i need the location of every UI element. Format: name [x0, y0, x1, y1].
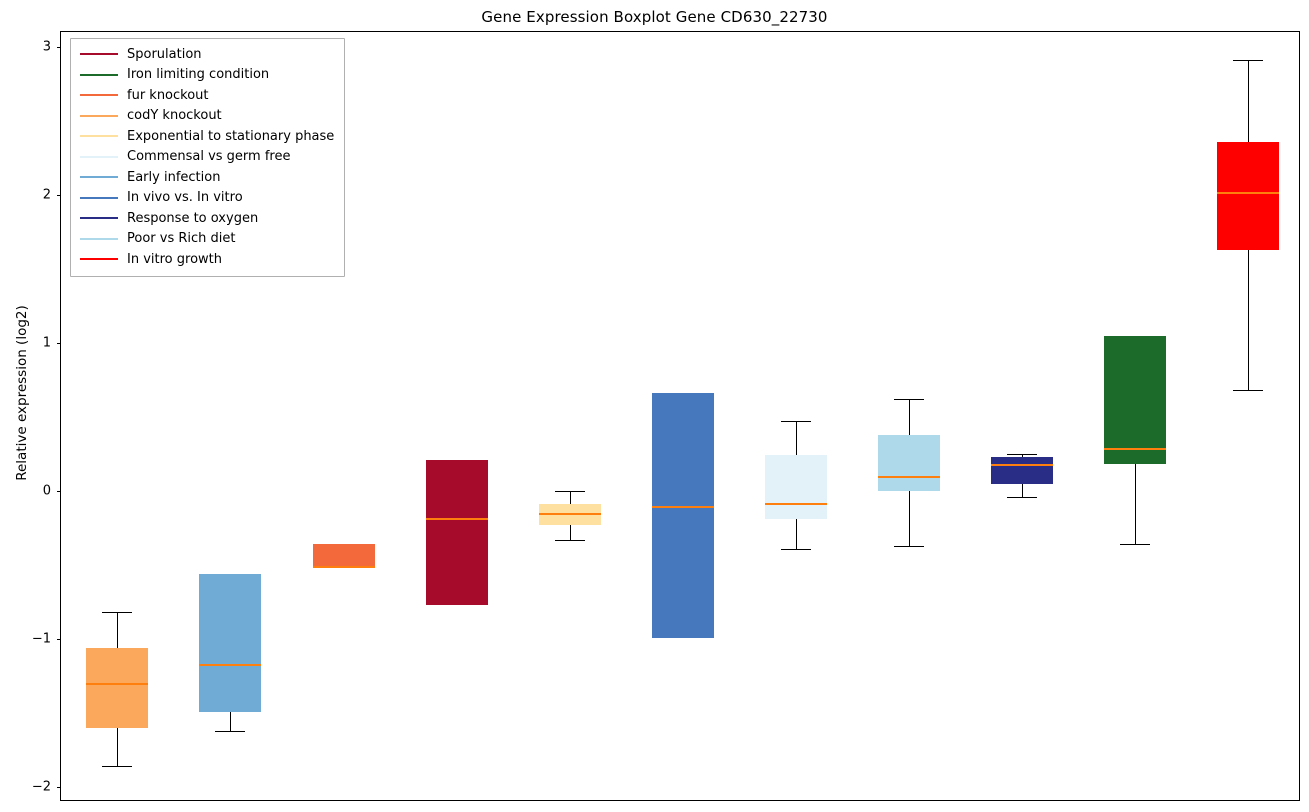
- whisker-cap-upper: [102, 612, 132, 613]
- median-line: [878, 476, 940, 478]
- whisker-cap-lower: [894, 546, 924, 547]
- legend-item-label: In vivo vs. In vitro: [127, 191, 243, 204]
- box-rect[interactable]: [1104, 336, 1166, 465]
- legend-item[interactable]: Exponential to stationary phase: [77, 126, 338, 147]
- median-line: [313, 566, 375, 568]
- legend-item[interactable]: In vivo vs. In vitro: [77, 188, 338, 209]
- box-rect[interactable]: [199, 574, 261, 712]
- median-line: [86, 683, 148, 685]
- box-rect[interactable]: [313, 544, 375, 568]
- median-line: [199, 664, 261, 666]
- box-rect[interactable]: [652, 393, 714, 637]
- legend-color-swatch: [80, 156, 118, 158]
- whisker-cap-upper: [781, 421, 811, 422]
- legend-item-label: Poor vs Rich diet: [127, 232, 235, 245]
- whisker-cap-lower: [215, 731, 245, 732]
- legend-item[interactable]: codY knockout: [77, 106, 338, 127]
- whisker-lower: [230, 712, 231, 731]
- legend-item-label: Commensal vs germ free: [127, 150, 290, 163]
- y-tick-mark: [57, 195, 62, 196]
- legend-item-label: Sporulation: [127, 48, 202, 61]
- legend-item[interactable]: Iron limiting condition: [77, 65, 338, 86]
- legend-color-swatch: [80, 176, 118, 178]
- legend-item[interactable]: Poor vs Rich diet: [77, 229, 338, 250]
- whisker-cap-lower: [1233, 390, 1263, 391]
- whisker-lower: [909, 491, 910, 546]
- whisker-cap-lower: [102, 766, 132, 767]
- y-tick-mark: [57, 491, 62, 492]
- box-rect[interactable]: [991, 457, 1053, 484]
- y-tick-label: 0: [13, 484, 51, 499]
- median-line: [765, 503, 827, 505]
- legend-item-label: Response to oxygen: [127, 212, 258, 225]
- y-axis-label: Relative expression (log2): [14, 193, 30, 593]
- whisker-cap-lower: [781, 549, 811, 550]
- whisker-lower: [117, 728, 118, 766]
- y-tick-mark: [57, 787, 62, 788]
- whisker-lower: [1022, 484, 1023, 497]
- legend-item-label: codY knockout: [127, 109, 222, 122]
- box-rect[interactable]: [1217, 142, 1279, 250]
- whisker-cap-upper: [894, 399, 924, 400]
- legend-color-swatch: [80, 94, 118, 96]
- legend-color-swatch: [80, 74, 118, 76]
- legend-color-swatch: [80, 197, 118, 199]
- legend: SporulationIron limiting conditionfur kn…: [70, 38, 345, 277]
- y-tick-mark: [57, 47, 62, 48]
- legend-color-swatch: [80, 217, 118, 219]
- whisker-upper: [570, 491, 571, 504]
- box-rect[interactable]: [765, 455, 827, 519]
- legend-item-label: fur knockout: [127, 89, 209, 102]
- box-rect[interactable]: [86, 648, 148, 728]
- whisker-cap-upper: [555, 491, 585, 492]
- y-tick-mark: [57, 343, 62, 344]
- median-line: [991, 464, 1053, 466]
- box-rect[interactable]: [426, 460, 488, 605]
- legend-item-label: Iron limiting condition: [127, 68, 269, 81]
- legend-item-label: Early infection: [127, 171, 220, 184]
- median-line: [652, 506, 714, 508]
- legend-item-label: Exponential to stationary phase: [127, 130, 334, 143]
- legend-color-swatch: [80, 258, 118, 260]
- whisker-upper: [117, 612, 118, 648]
- whisker-cap-lower: [1120, 544, 1150, 545]
- y-tick-mark: [57, 639, 62, 640]
- legend-item[interactable]: In vitro growth: [77, 249, 338, 270]
- legend-color-swatch: [80, 135, 118, 137]
- y-tick-label: 1: [13, 336, 51, 351]
- whisker-lower: [1248, 250, 1249, 391]
- y-tick-label: 3: [13, 40, 51, 55]
- median-line: [1217, 192, 1279, 194]
- whisker-cap-upper: [1007, 454, 1037, 455]
- whisker-lower: [1135, 464, 1136, 544]
- legend-item[interactable]: Response to oxygen: [77, 208, 338, 229]
- median-line: [539, 513, 601, 515]
- legend-color-swatch: [80, 115, 118, 117]
- y-tick-label: −1: [13, 632, 51, 647]
- whisker-lower: [570, 525, 571, 540]
- median-line: [426, 518, 488, 520]
- whisker-upper: [796, 421, 797, 455]
- y-tick-label: 2: [13, 188, 51, 203]
- whisker-cap-upper: [1233, 60, 1263, 61]
- y-tick-label: −2: [13, 780, 51, 795]
- chart-title: Gene Expression Boxplot Gene CD630_22730: [0, 8, 1309, 26]
- median-line: [1104, 448, 1166, 450]
- whisker-upper: [909, 399, 910, 435]
- whisker-lower: [796, 519, 797, 549]
- legend-item[interactable]: Commensal vs germ free: [77, 147, 338, 168]
- whisker-cap-lower: [555, 540, 585, 541]
- legend-color-swatch: [80, 53, 118, 55]
- whisker-upper: [1248, 60, 1249, 141]
- legend-item-label: In vitro growth: [127, 253, 222, 266]
- legend-item[interactable]: Early infection: [77, 167, 338, 188]
- whisker-cap-lower: [1007, 497, 1037, 498]
- legend-item[interactable]: fur knockout: [77, 85, 338, 106]
- box-rect[interactable]: [878, 435, 940, 491]
- legend-item[interactable]: Sporulation: [77, 44, 338, 65]
- legend-color-swatch: [80, 238, 118, 240]
- figure-canvas: Gene Expression Boxplot Gene CD630_22730…: [0, 0, 1309, 812]
